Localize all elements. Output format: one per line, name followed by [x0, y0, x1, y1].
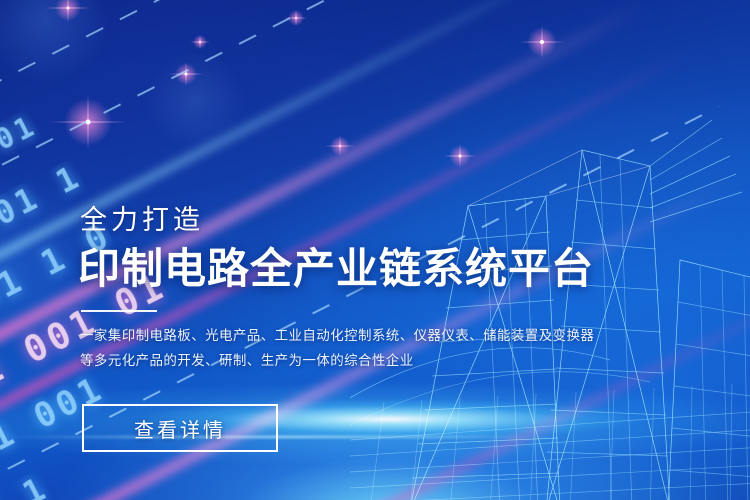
hero-divider [81, 310, 157, 312]
hero-description-line-1: 一家集印制电路板、光电产品、工业自动化控制系统、仪器仪表、储能装置及变换器 [80, 323, 594, 348]
hero-banner: 01 001 01 0 1001 01 01 1001 0 1 01 1 0 1… [0, 0, 750, 500]
view-details-button[interactable]: 查看详情 [82, 404, 278, 452]
binary-strip: 01 1 001 0 1 01 1001 0 101 01 0 1 [0, 470, 55, 500]
hero-kicker: 全力打造 [80, 198, 204, 237]
hero-headline: 印制电路全产业链系统平台 [78, 235, 594, 296]
hero-content: 全力打造 印制电路全产业链系统平台 一家集印制电路板、光电产品、工业自动化控制系… [80, 0, 680, 500]
hero-description-line-2: 等多元化产品的开发、研制、生产为一体的综合性企业 [80, 348, 594, 373]
hero-description: 一家集印制电路板、光电产品、工业自动化控制系统、仪器仪表、储能装置及变换器 等多… [80, 323, 594, 373]
